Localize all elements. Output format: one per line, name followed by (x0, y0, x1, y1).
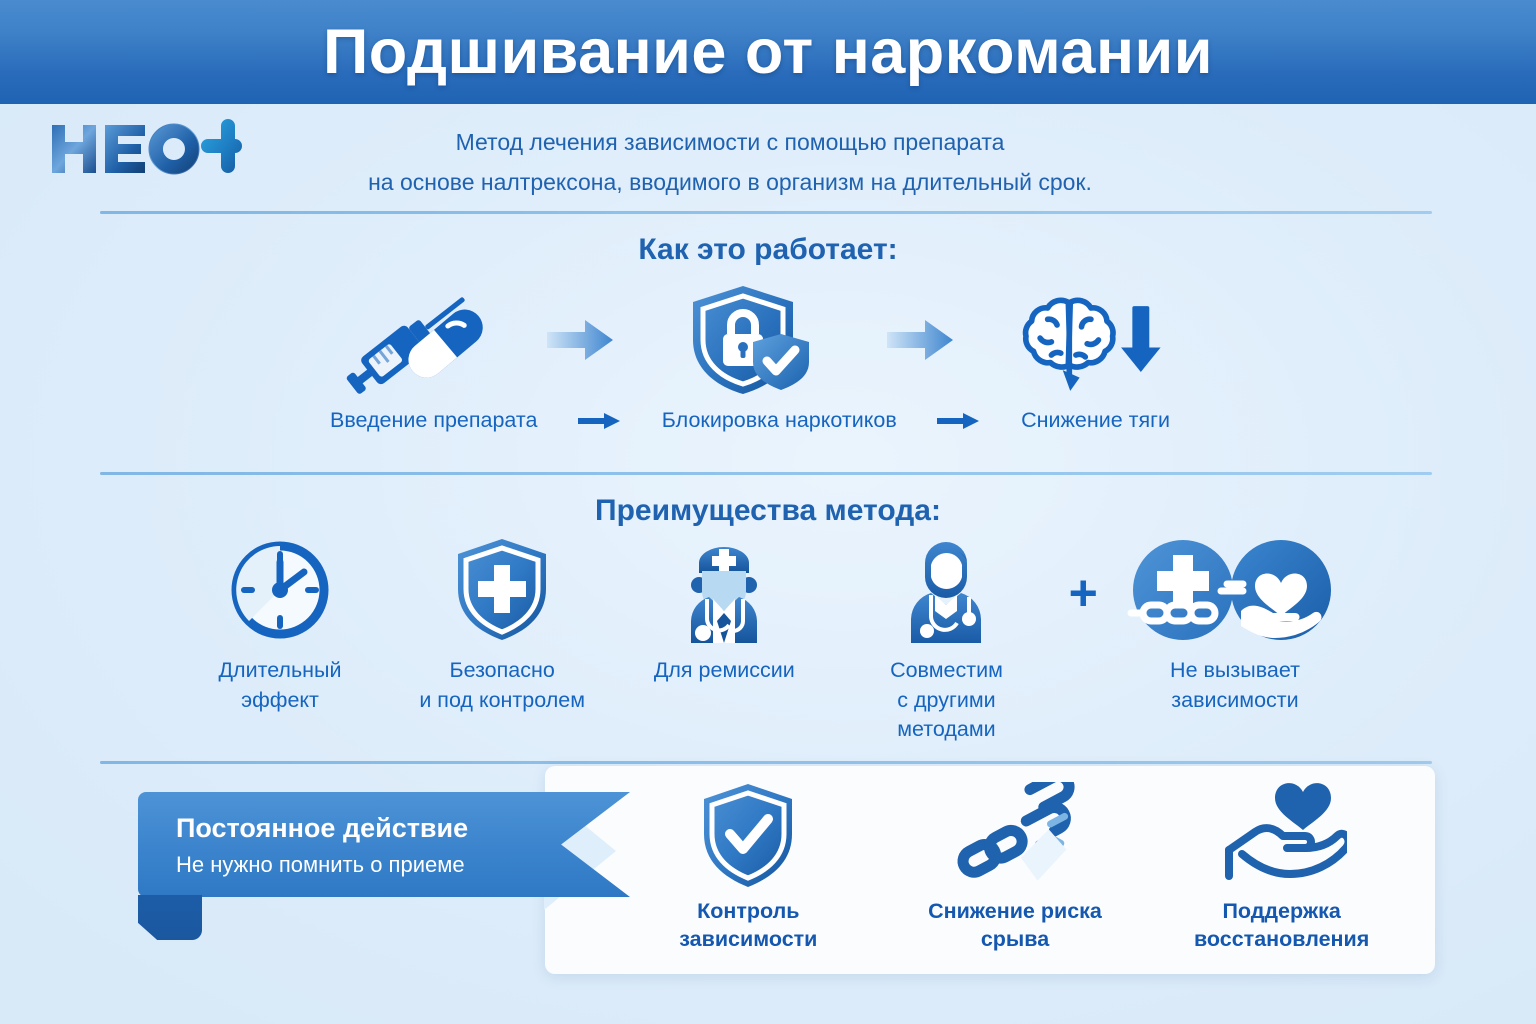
benefit-item-long-effect: Длительный эффект (180, 538, 380, 715)
benefit-label-compatible-line1: Совместим (890, 658, 1003, 682)
neo-plus-logo-icon (48, 119, 243, 179)
outcome-item-control: Контроль зависимости (628, 782, 868, 954)
benefit-label-compatible: Совместим с другими методами (890, 656, 1003, 745)
divider-bottom (100, 761, 1432, 764)
how-it-works-heading: Как это работает: (0, 233, 1536, 267)
outcome-item-relapse: Снижение риска срыва (895, 782, 1135, 954)
shield-check-icon (700, 782, 796, 890)
benefit-item-compatible: Совместим с другими методами (846, 538, 1046, 745)
outcome-label-support-line2: восстановления (1194, 927, 1369, 951)
benefit-item-remission: Для ремиссии (624, 538, 824, 686)
benefit-label-remission: Для ремиссии (654, 656, 795, 686)
broken-chain-heart-hand-icon (1125, 538, 1345, 642)
divider-top (100, 211, 1432, 214)
outcome-label-support: Поддержка восстановления (1194, 898, 1369, 954)
outcomes-card: Контроль зависимости (545, 766, 1435, 974)
header-banner: Подшивание от наркомании (0, 0, 1536, 104)
benefit-label-no-addiction-line2: зависимости (1171, 688, 1298, 712)
benefit-label-long-effect: Длительный эффект (180, 656, 380, 715)
arrow-right-icon-small-2 (937, 411, 981, 431)
how-it-works-label-row: Введение препарата Блокировка наркотиков… (330, 408, 1170, 433)
brain-down-arrow-icon (1010, 282, 1170, 398)
ribbon-text: Постоянное действие Не нужно помнить о п… (176, 812, 468, 879)
page-title: Подшивание от наркомании (323, 16, 1213, 88)
benefit-label-safe-line1: Безопасно (449, 658, 554, 682)
shield-lock-icon (670, 282, 830, 398)
flow-label-1: Введение препарата (330, 408, 537, 433)
benefits-heading: Преимущества метода: (0, 494, 1536, 528)
how-it-works-icon-row (330, 282, 1170, 398)
subtitle-line-1: Метод лечения зависимости с помощью преп… (456, 129, 1005, 155)
benefit-label-safe-line2: и под контролем (419, 688, 585, 712)
benefit-label-safe: Безопасно и под контролем (419, 656, 585, 715)
clock-icon (228, 538, 332, 642)
arrow-right-icon-small-1 (578, 411, 622, 431)
flow-label-3: Снижение тяги (1021, 408, 1170, 433)
shield-cross-icon (454, 538, 550, 642)
divider-middle (100, 472, 1432, 475)
flow-label-2: Блокировка наркотиков (662, 408, 897, 433)
subtitle: Метод лечения зависимости с помощью преп… (280, 122, 1180, 203)
outcome-item-support: Поддержка восстановления (1162, 782, 1402, 954)
infographic-poster: Подшивание от наркомании (0, 0, 1536, 1024)
benefit-label-compatible-line3: методами (897, 717, 995, 741)
benefit-item-safe: Безопасно и под контролем (402, 538, 602, 715)
outcome-label-support-line1: Поддержка (1222, 899, 1340, 923)
doctor-icon (669, 538, 779, 642)
benefit-label-compatible-line2: с другими (897, 688, 995, 712)
arrow-right-icon-1 (540, 318, 620, 362)
ribbon-title: Постоянное действие (176, 812, 468, 846)
subtitle-line-2: на основе налтрексона, вводимого в орган… (280, 162, 1180, 202)
ribbon-banner: Постоянное действие Не нужно помнить о п… (138, 792, 630, 940)
plus-sign: + (1069, 568, 1098, 618)
benefit-label-no-addiction-line1: Не вызывает (1170, 658, 1300, 682)
ribbon-subtitle: Не нужно помнить о приеме (176, 850, 468, 880)
hand-heart-icon (1217, 782, 1347, 890)
breaking-chain-icon (940, 782, 1090, 890)
medic-person-icon (891, 538, 1001, 642)
benefits-row: Длительный эффект Безопасно и под контро… (180, 538, 1350, 738)
outcomes-row: Контроль зависимости (615, 782, 1415, 958)
benefit-label-no-addiction: Не вызывает зависимости (1170, 656, 1300, 715)
outcome-label-relapse: Снижение риска срыва (895, 898, 1135, 954)
outcome-label-control: Контроль зависимости (628, 898, 868, 954)
syringe-pill-icon (330, 284, 490, 396)
benefit-item-no-addiction: Не вызывает зависимости (1120, 538, 1350, 715)
neo-plus-logo (48, 118, 243, 180)
arrow-right-icon-2 (880, 318, 960, 362)
ribbon-tail (138, 895, 202, 940)
